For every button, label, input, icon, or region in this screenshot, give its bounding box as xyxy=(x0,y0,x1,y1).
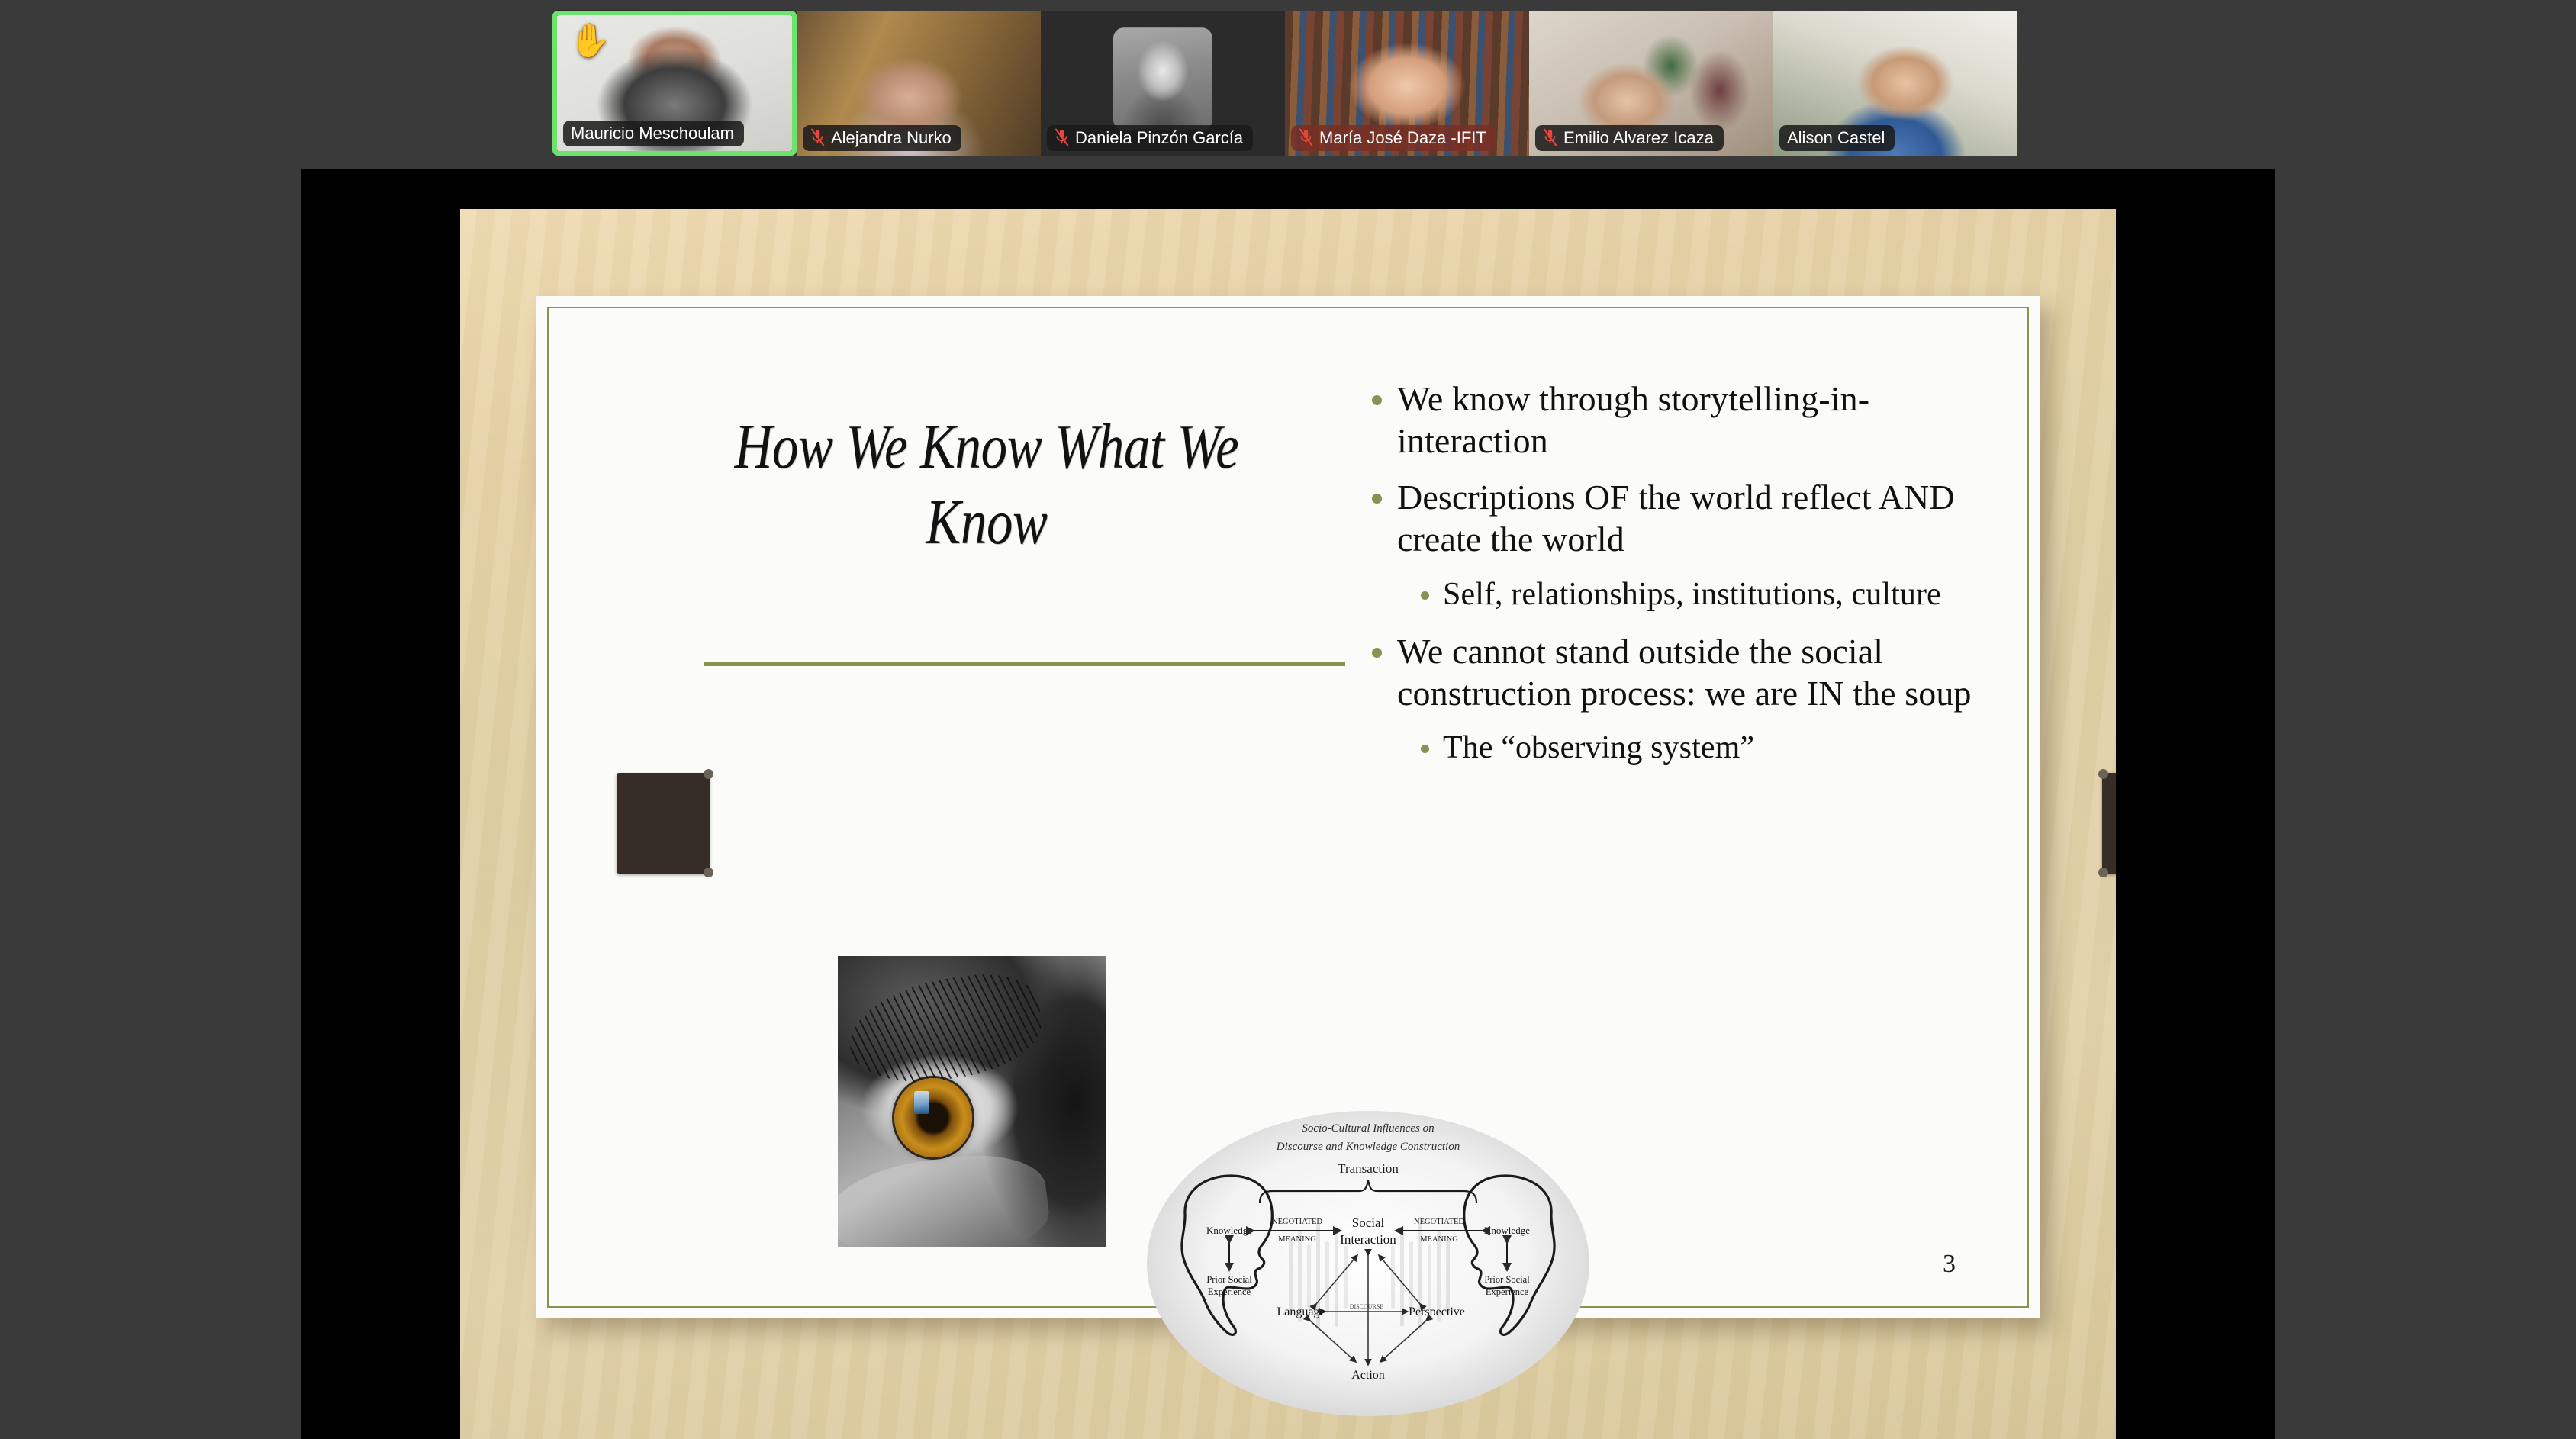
participant-tile[interactable]: María José Daza -IFIT xyxy=(1285,11,1529,156)
participant-tile[interactable]: ✋Mauricio Meschoulam xyxy=(552,11,797,156)
decorative-side-tab-right xyxy=(2102,773,2116,874)
participant-tile[interactable]: Daniela Pinzón García xyxy=(1041,11,1285,156)
bullet-item: We know through storytelling-in-interact… xyxy=(1372,378,1975,462)
diagram-left-knowledge: Knowledge xyxy=(1206,1225,1252,1236)
diagram-node-language: Language xyxy=(1277,1305,1325,1318)
raised-hand-icon: ✋ xyxy=(569,24,611,58)
diagram-discourse-label: DISCOURSE xyxy=(1350,1303,1384,1310)
bullet-dot-icon xyxy=(1421,591,1429,600)
participant-name: María José Daza -IFIT xyxy=(1319,128,1486,147)
microphone-muted-icon xyxy=(1543,128,1557,147)
diagram-left-prior-1: Prior Social xyxy=(1206,1274,1252,1285)
participant-name-pill: Alison Castel xyxy=(1779,125,1895,151)
slide-number: 3 xyxy=(1943,1250,1956,1279)
bullet-dot-icon xyxy=(1372,395,1382,405)
diagram-negotiated-left-2: MEANING xyxy=(1278,1235,1316,1244)
diagram-title-line-2: Discourse and Knowledge Construction xyxy=(1276,1141,1460,1153)
diagram-node-action: Action xyxy=(1351,1369,1385,1382)
diagram-brace-label: Transaction xyxy=(1338,1161,1399,1176)
eye-photograph xyxy=(838,956,1106,1247)
bullet-dot-icon xyxy=(1372,494,1382,504)
slide-card: How We Know What We Know xyxy=(536,296,2040,1318)
eye-iris xyxy=(894,1078,972,1157)
tab-knob-icon xyxy=(2098,769,2108,779)
diagram-node-perspective: Perspective xyxy=(1409,1305,1465,1318)
participant-name-pill: Daniela Pinzón García xyxy=(1047,125,1253,151)
avatar xyxy=(1113,27,1212,130)
tab-knob-icon xyxy=(704,868,713,877)
shared-screen-stage[interactable]: How We Know What We Know xyxy=(301,169,2275,1439)
slide-title: How We Know What We Know xyxy=(711,409,1262,560)
participant-name-pill: Emilio Alvarez Icaza xyxy=(1535,125,1724,151)
participant-name: Daniela Pinzón García xyxy=(1075,128,1243,147)
slide-bullet-list: We know through storytelling-in-interact… xyxy=(1372,378,1975,784)
diagram-right-knowledge: Knowledge xyxy=(1484,1225,1530,1236)
participant-name-pill: Alejandra Nurko xyxy=(803,125,961,151)
diagram-social-interaction-1: Social xyxy=(1352,1215,1385,1230)
diagram-social-interaction-2: Interaction xyxy=(1340,1232,1396,1247)
presentation-mat: How We Know What We Know xyxy=(460,209,2116,1439)
microphone-muted-icon xyxy=(1299,128,1313,147)
bullet-text: We know through storytelling-in-interact… xyxy=(1397,378,1975,462)
bullet-text: We cannot stand outside the social const… xyxy=(1397,631,1975,714)
diagram-left-prior-2: Experience xyxy=(1208,1286,1251,1297)
microphone-muted-icon xyxy=(1055,128,1069,147)
diagram-negotiated-right-1: NEGOTIATED xyxy=(1414,1218,1464,1226)
title-divider-rule xyxy=(704,662,1345,666)
participant-name: Emilio Alvarez Icaza xyxy=(1563,128,1714,147)
participant-name-pill: Mauricio Meschoulam xyxy=(563,121,744,146)
bullet-text: Self, relationships, institutions, cultu… xyxy=(1443,576,1941,614)
socio-cultural-influences-diagram: Socio-Cultural Influences on Discourse a… xyxy=(1139,1099,1597,1435)
diagram-title-line-1: Socio-Cultural Influences on xyxy=(1302,1122,1434,1135)
zoom-meeting-screen: ✋Mauricio Meschoulam Alejandra Nurko Dan… xyxy=(0,0,2576,1439)
tab-knob-icon xyxy=(704,769,713,779)
decorative-side-tab-left xyxy=(617,773,710,874)
bullet-item: The “observing system” xyxy=(1421,729,1975,768)
bullet-text: Descriptions OF the world reflect AND cr… xyxy=(1397,477,1975,560)
bullet-dot-icon xyxy=(1421,745,1429,753)
participant-tile[interactable]: Emilio Alvarez Icaza xyxy=(1529,11,1773,156)
participant-name: Alison Castel xyxy=(1787,128,1885,147)
bullet-text: The “observing system” xyxy=(1443,729,1754,768)
microphone-muted-icon xyxy=(810,128,825,147)
participant-name: Mauricio Meschoulam xyxy=(571,124,734,143)
diagram-right-prior-1: Prior Social xyxy=(1484,1274,1530,1285)
participant-name-pill: María José Daza -IFIT xyxy=(1291,125,1496,151)
participant-tile[interactable]: Alejandra Nurko xyxy=(797,11,1041,156)
participant-name: Alejandra Nurko xyxy=(831,128,952,147)
slide-content: How We Know What We Know xyxy=(536,296,2040,1318)
bullet-item: Descriptions OF the world reflect AND cr… xyxy=(1372,477,1975,560)
diagram-negotiated-right-2: MEANING xyxy=(1420,1235,1458,1244)
bullet-item: We cannot stand outside the social const… xyxy=(1372,631,1975,714)
diagram-negotiated-left-1: NEGOTIATED xyxy=(1272,1218,1322,1226)
bullet-dot-icon xyxy=(1372,648,1382,658)
participant-video-strip: ✋Mauricio Meschoulam Alejandra Nurko Dan… xyxy=(552,11,2025,156)
bullet-item: Self, relationships, institutions, cultu… xyxy=(1421,576,1975,614)
participant-tile[interactable]: Alison Castel xyxy=(1773,11,2017,156)
diagram-right-prior-2: Experience xyxy=(1486,1286,1529,1297)
tab-knob-icon xyxy=(2098,868,2108,877)
